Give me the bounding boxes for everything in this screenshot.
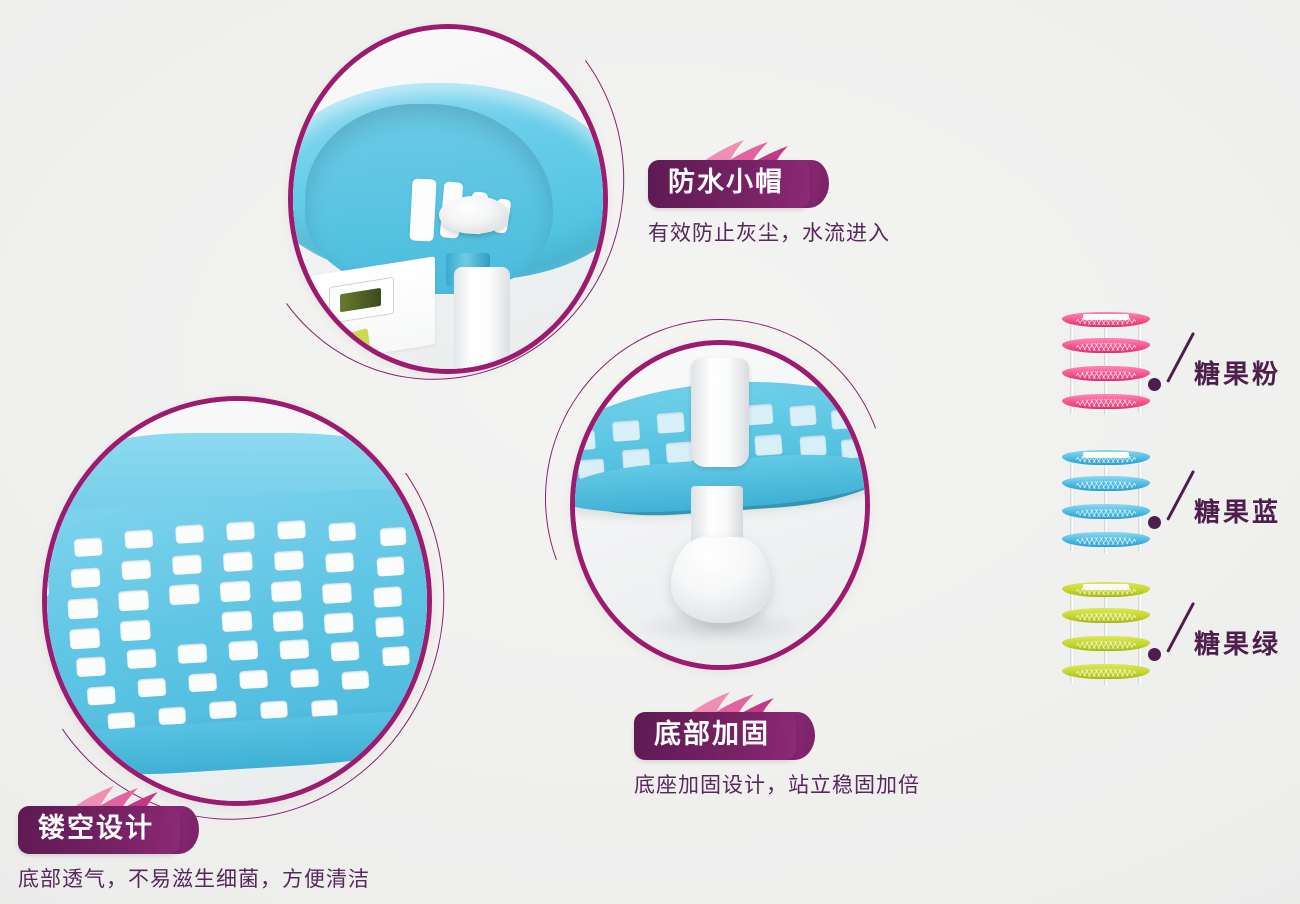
rack-tier bbox=[1062, 504, 1150, 519]
rack-tier bbox=[1062, 338, 1150, 353]
feature-hollow-design: 镂空设计 底部透气，不易滋生细菌，方便清洁 bbox=[18, 806, 370, 893]
rack-tier bbox=[1062, 450, 1150, 465]
variant-label: 糖果粉 bbox=[1194, 354, 1281, 391]
rack-tier bbox=[1062, 636, 1150, 651]
support-pole-white bbox=[454, 267, 510, 369]
photo-waterproof-cap bbox=[288, 24, 608, 374]
infographic-canvas: 防水小帽 有效防止灰尘，水流进入 底部加固 底座加固设计，站立稳固加倍 镂空设计… bbox=[0, 0, 1300, 904]
rack-tier bbox=[1062, 394, 1150, 409]
feature-subtitle: 底部透气，不易滋生细菌，方便清洁 bbox=[18, 863, 370, 893]
rack-thumbnail-green bbox=[1060, 580, 1152, 688]
feature-waterproof-cap: 防水小帽 有效防止灰尘，水流进入 bbox=[648, 160, 890, 247]
waterproof-cap-icon bbox=[439, 196, 509, 234]
feature-subtitle: 底座加固设计，站立稳固加倍 bbox=[634, 769, 920, 799]
reinforced-foot bbox=[671, 537, 771, 623]
feature-title: 镂空设计 bbox=[18, 806, 180, 854]
support-pole-upper bbox=[691, 358, 749, 467]
variant-label: 糖果绿 bbox=[1194, 624, 1281, 661]
rack-tier bbox=[1062, 608, 1150, 623]
rack-tier bbox=[1062, 366, 1150, 381]
shelf-slot bbox=[409, 178, 436, 241]
rack-tier bbox=[1062, 664, 1150, 679]
rack-tier bbox=[1062, 582, 1150, 597]
feature-reinforced-base: 底部加固 底座加固设计，站立稳固加倍 bbox=[634, 712, 920, 799]
rack-tier bbox=[1062, 476, 1150, 491]
feature-title: 底部加固 bbox=[634, 712, 796, 760]
photo-reinforced-base bbox=[570, 340, 870, 670]
photo-hollow-design bbox=[42, 396, 432, 806]
rack-tier bbox=[1062, 532, 1150, 547]
feature-title: 防水小帽 bbox=[648, 160, 810, 208]
rack-thumbnail-pink bbox=[1060, 310, 1152, 418]
feature-subtitle: 有效防止灰尘，水流进入 bbox=[648, 217, 890, 247]
rack-thumbnail-blue bbox=[1060, 448, 1152, 556]
variant-label: 糖果蓝 bbox=[1194, 492, 1281, 529]
rack-tier bbox=[1062, 312, 1150, 327]
